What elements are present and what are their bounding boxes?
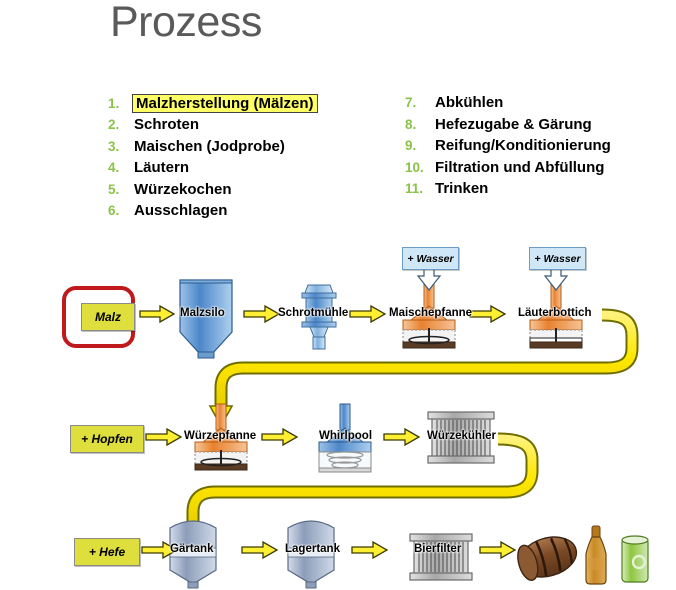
malzsilo-icon	[180, 280, 232, 358]
step-label: Reifung/Konditionierung	[435, 137, 611, 154]
step-label: Würzekochen	[134, 181, 232, 198]
step-number: 4.	[108, 160, 134, 175]
beer-can-icon	[622, 536, 648, 582]
step-number: 11.	[405, 181, 435, 196]
wuerzepfanne-label: Würzepfanne	[184, 430, 256, 442]
step-label: Ausschlagen	[134, 202, 227, 219]
step-label: Maischen (Jodprobe)	[134, 138, 285, 155]
wasser-input-tag-1: + Wasser	[402, 247, 459, 270]
whirlpool-label: Whirlpool	[319, 430, 372, 442]
step-item-4: 4. Läutern	[108, 159, 388, 181]
step-number: 8.	[405, 117, 435, 132]
step-item-6: 6. Ausschlagen	[108, 202, 388, 224]
step-label: Schroten	[134, 116, 199, 133]
step-label: Trinken	[435, 180, 488, 197]
step-number: 1.	[108, 96, 134, 111]
bierfilter-icon	[410, 534, 472, 580]
step-number: 9.	[405, 138, 435, 153]
laeuterbottich-label: Läuterbottich	[518, 307, 591, 319]
step-number: 7.	[405, 95, 435, 110]
step-number: 6.	[108, 203, 134, 218]
beer-bottle-icon	[586, 526, 606, 584]
step-label: Filtration und Abfüllung	[435, 159, 604, 176]
beer-barrel-icon	[514, 531, 581, 584]
malzsilo-label: Malzsilo	[180, 307, 225, 319]
lagertank-label: Lagertank	[285, 543, 340, 555]
step-item-8: 8. Hefezugabe & Gärung	[405, 116, 670, 138]
gaertank-label: Gärtank	[170, 543, 213, 555]
step-item-10: 10. Filtration und Abfüllung	[405, 159, 670, 181]
step-number: 3.	[108, 139, 134, 154]
step-item-1: 1. Malzherstellung (Mälzen)	[108, 94, 388, 116]
step-item-7: 7. Abkühlen	[405, 94, 670, 116]
step-item-3: 3. Maischen (Jodprobe)	[108, 138, 388, 160]
schrotmuehle-label: Schrotmühle	[278, 307, 348, 319]
step-label: Läutern	[134, 159, 189, 176]
malz-input-tag: Malz	[81, 303, 135, 331]
step-number: 10.	[405, 160, 435, 175]
maischepfanne-label: Maischepfanne	[389, 307, 472, 319]
step-label: Hefezugabe & Gärung	[435, 116, 592, 133]
hopfen-input-tag: + Hopfen	[70, 425, 144, 453]
steps-left-column: 1. Malzherstellung (Mälzen) 2. Schroten …	[108, 94, 388, 224]
step-item-2: 2. Schroten	[108, 116, 388, 138]
wasser-input-tag-2: + Wasser	[529, 247, 586, 270]
step-label: Malzherstellung (Mälzen)	[132, 94, 318, 113]
process-flow-diagram: Malzsilo Schrotmühle Maischepfanne Läute…	[0, 232, 676, 590]
step-number: 5.	[108, 182, 134, 197]
page-title: Prozess	[110, 0, 262, 47]
step-item-5: 5. Würzekochen	[108, 181, 388, 203]
step-label: Abkühlen	[435, 94, 503, 111]
wuerzekuehler-label: Würzekühler	[427, 430, 496, 442]
step-item-9: 9. Reifung/Konditionierung	[405, 137, 670, 159]
step-number: 2.	[108, 117, 134, 132]
steps-right-column: 7. Abkühlen 8. Hefezugabe & Gärung 9. Re…	[405, 94, 670, 202]
bierfilter-label: Bierfilter	[414, 543, 461, 555]
step-item-11: 11. Trinken	[405, 180, 670, 202]
hefe-input-tag: + Hefe	[74, 538, 140, 566]
